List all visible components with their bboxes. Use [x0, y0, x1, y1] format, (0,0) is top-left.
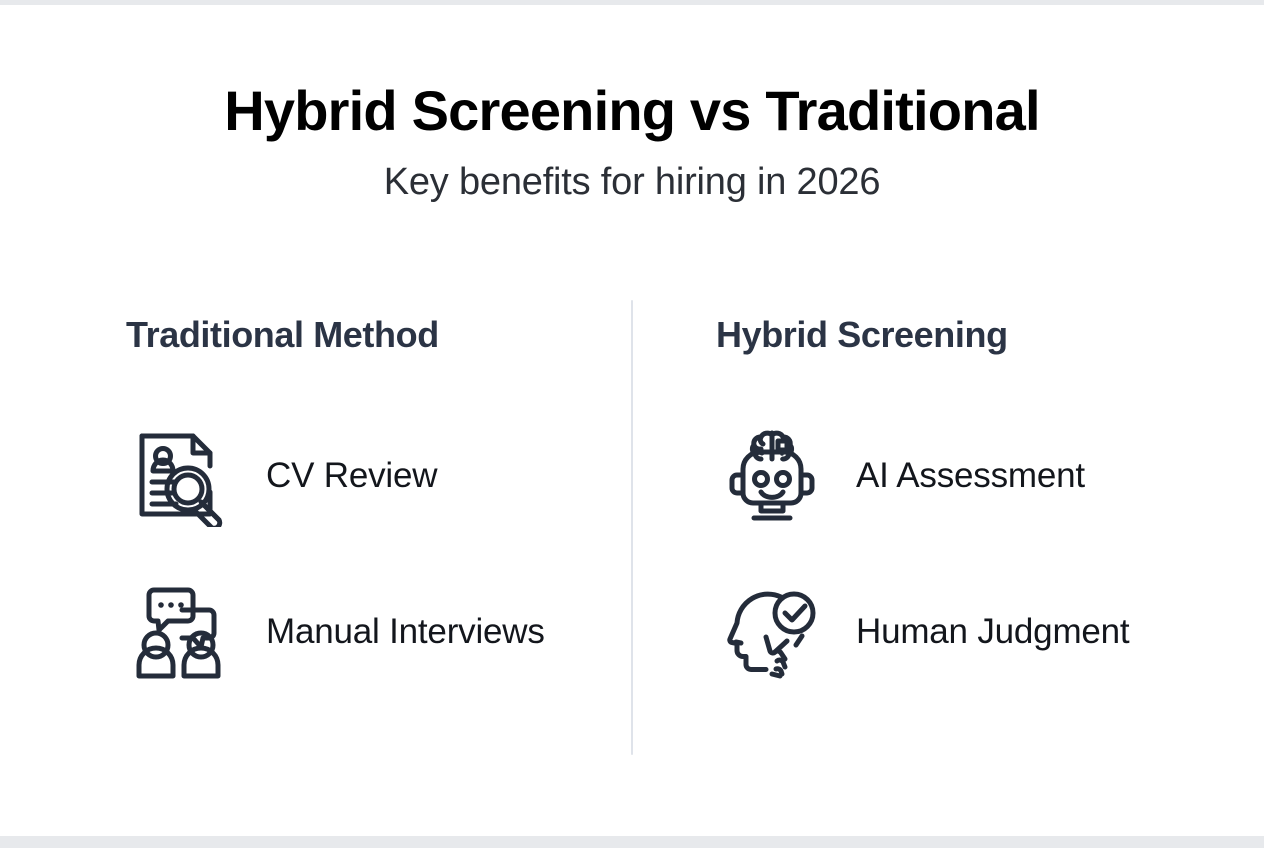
robot-brain-icon — [716, 419, 828, 531]
list-item-label: Manual Interviews — [238, 614, 545, 649]
comparison-columns: Traditional Method — [0, 295, 1264, 765]
page-subtitle: Key benefits for hiring in 2026 — [0, 139, 1264, 201]
list-item[interactable]: CV Review — [126, 417, 632, 533]
list-item[interactable]: Manual Interviews — [126, 573, 632, 689]
column-heading-hybrid: Hybrid Screening — [716, 317, 1264, 353]
hybrid-item-list: AI Assessment — [716, 353, 1264, 689]
traditional-item-list: CV Review — [126, 353, 632, 689]
page-title: Hybrid Screening vs Traditional — [0, 83, 1264, 139]
list-item-label: Human Judgment — [828, 614, 1129, 649]
two-people-speech-bubbles-icon — [126, 575, 238, 687]
head-check-hand-icon — [716, 575, 828, 687]
list-item-label: CV Review — [238, 458, 437, 493]
cv-document-magnifier-icon — [126, 419, 238, 531]
column-hybrid: Hybrid Screening — [632, 295, 1264, 765]
slide-header: Hybrid Screening vs Traditional Key bene… — [0, 5, 1264, 201]
list-item[interactable]: Human Judgment — [716, 573, 1264, 689]
slide-canvas: Hybrid Screening vs Traditional Key bene… — [0, 5, 1264, 836]
list-item-label: AI Assessment — [828, 458, 1085, 493]
column-traditional: Traditional Method — [0, 295, 632, 765]
column-heading-traditional: Traditional Method — [126, 317, 632, 353]
list-item[interactable]: AI Assessment — [716, 417, 1264, 533]
